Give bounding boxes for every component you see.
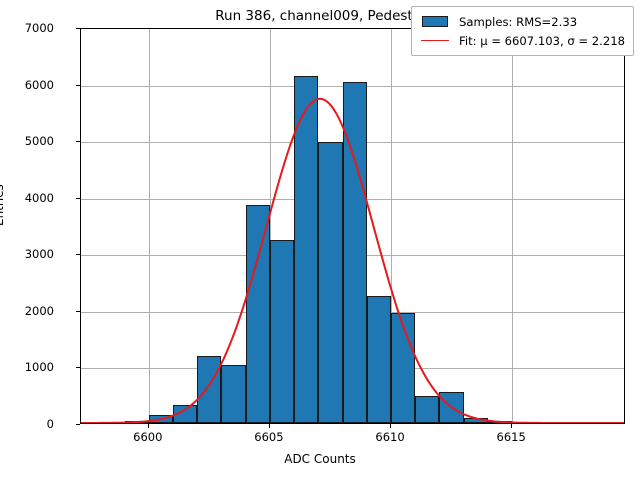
x-tick-label: 6600: [108, 430, 188, 444]
y-tick-label: 4000: [0, 191, 54, 205]
legend-label-samples: Samples: RMS=2.33: [452, 15, 577, 29]
x-tick-mark: [148, 424, 149, 428]
y-tick-mark: [76, 85, 80, 86]
y-tick-mark: [76, 141, 80, 142]
chart-legend[interactable]: Samples: RMS=2.33 Fit: μ = 6607.103, σ =…: [411, 6, 634, 56]
y-tick-label: 7000: [0, 21, 54, 35]
legend-line-swatch-icon: [418, 40, 452, 41]
legend-item-samples: Samples: RMS=2.33: [418, 12, 625, 31]
x-tick-mark: [269, 424, 270, 428]
gaussian-fit-curve: [81, 29, 624, 423]
x-tick-label: 6605: [229, 430, 309, 444]
legend-label-fit: Fit: μ = 6607.103, σ = 2.218: [452, 34, 625, 48]
y-tick-mark: [76, 198, 80, 199]
y-tick-mark: [76, 424, 80, 425]
x-tick-mark: [511, 424, 512, 428]
legend-item-fit: Fit: μ = 6607.103, σ = 2.218: [418, 31, 625, 50]
y-tick-label: 6000: [0, 78, 54, 92]
plot-area: [80, 28, 625, 424]
y-tick-mark: [76, 28, 80, 29]
legend-bar-swatch-icon: [418, 16, 452, 27]
x-axis-label: ADC Counts: [0, 452, 640, 466]
y-tick-mark: [76, 311, 80, 312]
x-tick-label: 6610: [350, 430, 430, 444]
y-tick-mark: [76, 367, 80, 368]
x-tick-mark: [390, 424, 391, 428]
x-tick-label: 6615: [471, 430, 551, 444]
y-tick-label: 1000: [0, 360, 54, 374]
y-tick-label: 2000: [0, 304, 54, 318]
y-tick-label: 5000: [0, 134, 54, 148]
y-tick-mark: [76, 254, 80, 255]
y-tick-label: 3000: [0, 247, 54, 261]
figure-canvas: Run 386, channel009, Pedestal Entries AD…: [0, 0, 640, 480]
y-tick-label: 0: [0, 417, 54, 431]
